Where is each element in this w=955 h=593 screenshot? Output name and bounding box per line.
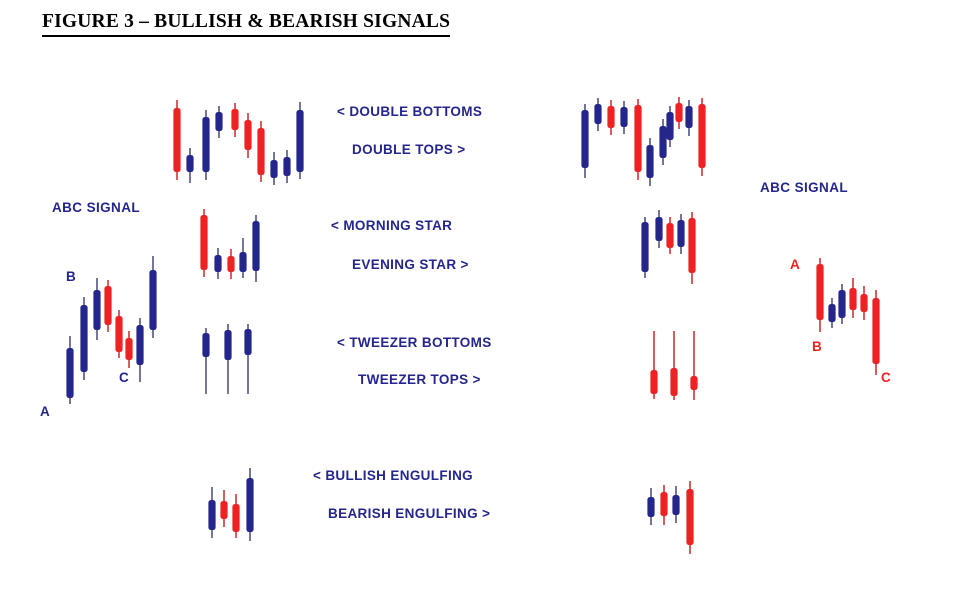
- candle-abc-left-5: [125, 331, 132, 368]
- point-label-abc-right-c: C: [881, 370, 891, 385]
- candle-abc-left-3: [104, 280, 111, 332]
- candle-double-bottoms-7: [270, 152, 277, 185]
- point-label-abc-left-c: C: [119, 370, 129, 385]
- point-label-abc-right-a: A: [790, 257, 800, 272]
- candle-double-bottoms-4: [231, 103, 238, 137]
- candle-double-tops-6: [659, 119, 666, 165]
- candle-tweezer-tops-1: [670, 331, 677, 400]
- chart-title-abc-right: ABC SIGNAL: [760, 180, 848, 195]
- candle-bullish-engulfing-2: [232, 494, 239, 538]
- candle-double-bottoms-2: [202, 110, 209, 180]
- candle-bullish-engulfing-3: [246, 468, 253, 541]
- candle-morning-star-1: [214, 248, 221, 279]
- candlestick-cluster-evening-star: [0, 0, 955, 593]
- candle-double-bottoms-8: [283, 150, 290, 183]
- pattern-label-evening-star: EVENING STAR >: [352, 257, 469, 272]
- candle-abc-left-1: [80, 297, 87, 380]
- pattern-label-double-tops: DOUBLE TOPS >: [352, 142, 465, 157]
- candle-double-tops-4: [634, 99, 641, 180]
- candle-double-tops-1: [594, 98, 601, 131]
- candle-double-tops-0: [581, 104, 588, 178]
- candle-abc-left-6: [136, 318, 143, 382]
- candlestick-cluster-bearish-engulfing: [0, 0, 955, 593]
- candle-double-bottoms-9: [296, 102, 303, 179]
- pattern-label-tweezer-bottoms: < TWEEZER BOTTOMS: [337, 335, 492, 350]
- candle-evening-star-4: [688, 212, 695, 284]
- candle-tweezer-bottoms-1: [224, 324, 231, 394]
- chart-title-abc-left: ABC SIGNAL: [52, 200, 140, 215]
- candle-double-bottoms-5: [244, 113, 251, 158]
- candle-bearish-engulfing-1: [660, 485, 667, 525]
- candle-bearish-engulfing-0: [647, 488, 654, 525]
- candle-double-tops-7: [666, 106, 673, 147]
- candle-evening-star-2: [666, 217, 673, 254]
- candle-double-tops-3: [620, 101, 627, 134]
- candle-bearish-engulfing-2: [672, 486, 679, 523]
- candlestick-cluster-abc-right: [0, 0, 955, 593]
- candle-bullish-engulfing-0: [208, 487, 215, 538]
- candle-tweezer-tops-0: [650, 331, 657, 399]
- candle-double-tops-2: [607, 100, 614, 135]
- candle-bullish-engulfing-1: [220, 490, 227, 527]
- candlestick-cluster-double-tops: [0, 0, 955, 593]
- candle-tweezer-bottoms-2: [244, 324, 251, 394]
- candle-abc-left-0: [66, 336, 73, 404]
- candle-bearish-engulfing-3: [686, 481, 693, 554]
- point-label-abc-left-b: B: [66, 269, 76, 284]
- point-label-abc-right-b: B: [812, 339, 822, 354]
- candle-evening-star-0: [641, 217, 648, 278]
- candle-abc-right-1: [828, 298, 835, 328]
- point-label-abc-left-a: A: [40, 404, 50, 419]
- candle-abc-right-4: [860, 286, 867, 320]
- pattern-label-tweezer-tops: TWEEZER TOPS >: [358, 372, 481, 387]
- pattern-label-bearish-engulfing: BEARISH ENGULFING >: [328, 506, 490, 521]
- pattern-label-morning-star: < MORNING STAR: [331, 218, 452, 233]
- pattern-label-double-bottoms: < DOUBLE BOTTOMS: [337, 104, 482, 119]
- candle-double-tops-10: [698, 98, 705, 176]
- candle-abc-left-7: [149, 256, 156, 338]
- candle-abc-left-4: [115, 310, 122, 358]
- candle-tweezer-tops-2: [690, 331, 697, 400]
- candlestick-cluster-tweezer-bottoms: [0, 0, 955, 593]
- candle-abc-right-2: [838, 284, 845, 324]
- candle-morning-star-4: [252, 215, 259, 282]
- candle-double-tops-8: [675, 97, 682, 129]
- candle-tweezer-bottoms-0: [202, 328, 209, 394]
- candle-double-bottoms-1: [186, 148, 193, 183]
- pattern-label-bullish-engulfing: < BULLISH ENGULFING: [313, 468, 473, 483]
- candlestick-cluster-bullish-engulfing: [0, 0, 955, 593]
- candle-double-bottoms-3: [215, 106, 222, 138]
- candle-double-bottoms-6: [257, 121, 264, 182]
- candle-abc-right-0: [816, 258, 823, 332]
- candle-morning-star-0: [200, 209, 207, 277]
- candle-evening-star-1: [655, 210, 662, 248]
- candle-abc-left-2: [93, 278, 100, 340]
- candle-double-bottoms-0: [173, 100, 180, 180]
- candle-double-tops-5: [646, 138, 653, 186]
- candlestick-cluster-morning-star: [0, 0, 955, 593]
- candlestick-cluster-double-bottoms: [0, 0, 955, 593]
- candlestick-cluster-tweezer-tops: [0, 0, 955, 593]
- candle-abc-right-5: [872, 290, 879, 375]
- candlestick-cluster-abc-left: [0, 0, 955, 593]
- candle-morning-star-3: [239, 238, 246, 278]
- page-title: FIGURE 3 – BULLISH & BEARISH SIGNALS: [42, 11, 450, 37]
- candle-evening-star-3: [677, 214, 684, 254]
- candle-morning-star-2: [227, 249, 234, 279]
- candle-double-tops-9: [685, 100, 692, 136]
- candle-abc-right-3: [849, 278, 856, 318]
